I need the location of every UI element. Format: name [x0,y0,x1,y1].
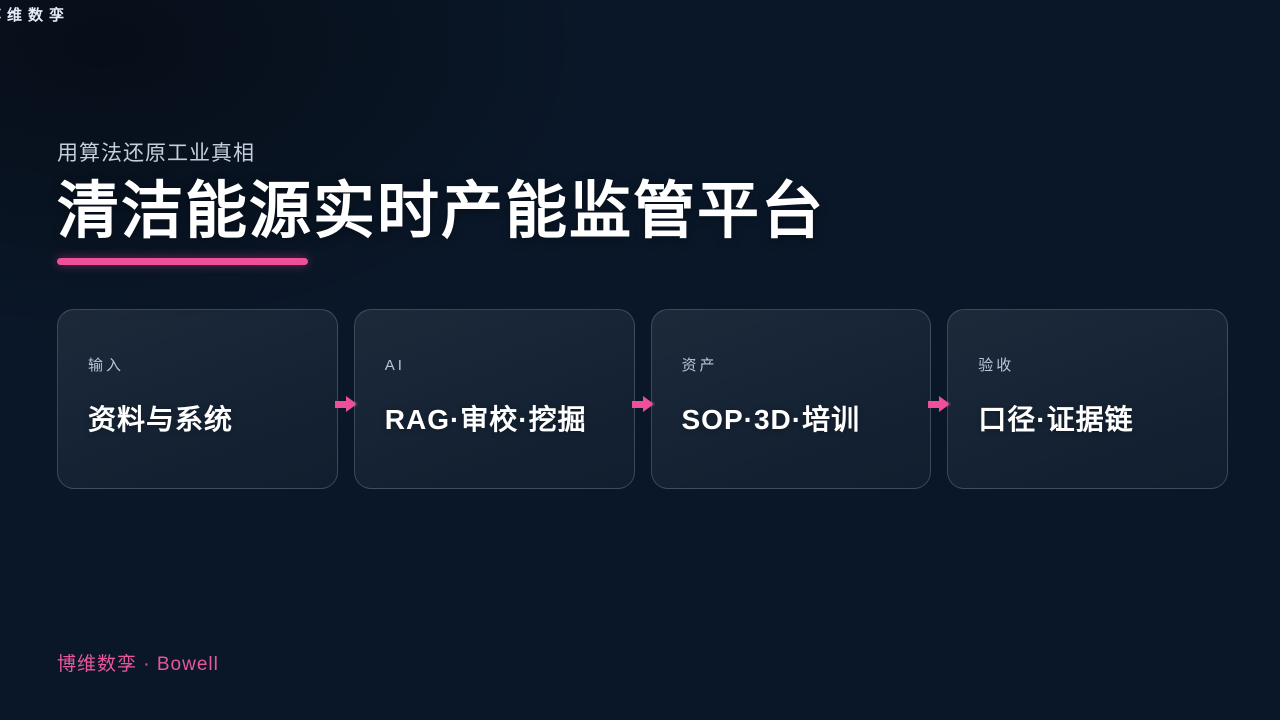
eyebrow-text: 用算法还原工业真相 [57,143,825,164]
pipeline-card-ai[interactable]: AI RAG·审校·挖掘 [354,309,635,489]
pipeline-card-title: SOP·3D·培训 [682,405,931,436]
pipeline-card-title: RAG·审校·挖掘 [385,405,634,436]
pipeline-card-input[interactable]: 输入 资料与系统 [57,309,338,489]
page-title: 清洁能源实时产能监管平台 [57,179,825,244]
pipeline-card-label: 验收 [978,358,1227,373]
pipeline-connector-2 [635,309,651,489]
pipeline-card-title: 资料与系统 [88,405,337,436]
pipeline-card-asset[interactable]: 资产 SOP·3D·培训 [651,309,932,489]
pipeline-card-acceptance[interactable]: 验收 口径·证据链 [947,309,1228,489]
pipeline-connector-1 [338,309,354,489]
pipeline-row: 输入 资料与系统 AI RAG·审校·挖掘 资产 SOP·3D·培训 [57,309,1228,489]
brand-mark: 博维数孪 [0,4,70,25]
pipeline-card-title: 口径·证据链 [978,405,1227,436]
headline-block: 用算法还原工业真相 清洁能源实时产能监管平台 [57,143,825,265]
footer-brand-text: 博维数孪 · Bowell [57,649,219,676]
pipeline-connector-3 [931,309,947,489]
pipeline-card-label: 输入 [88,358,337,373]
pipeline-card-label: 资产 [682,358,931,373]
pipeline-card-label: AI [385,358,634,373]
slide-canvas: 博维数孪 用算法还原工业真相 清洁能源实时产能监管平台 输入 资料与系统 AI … [0,0,1280,720]
title-underline-accent [57,258,308,265]
